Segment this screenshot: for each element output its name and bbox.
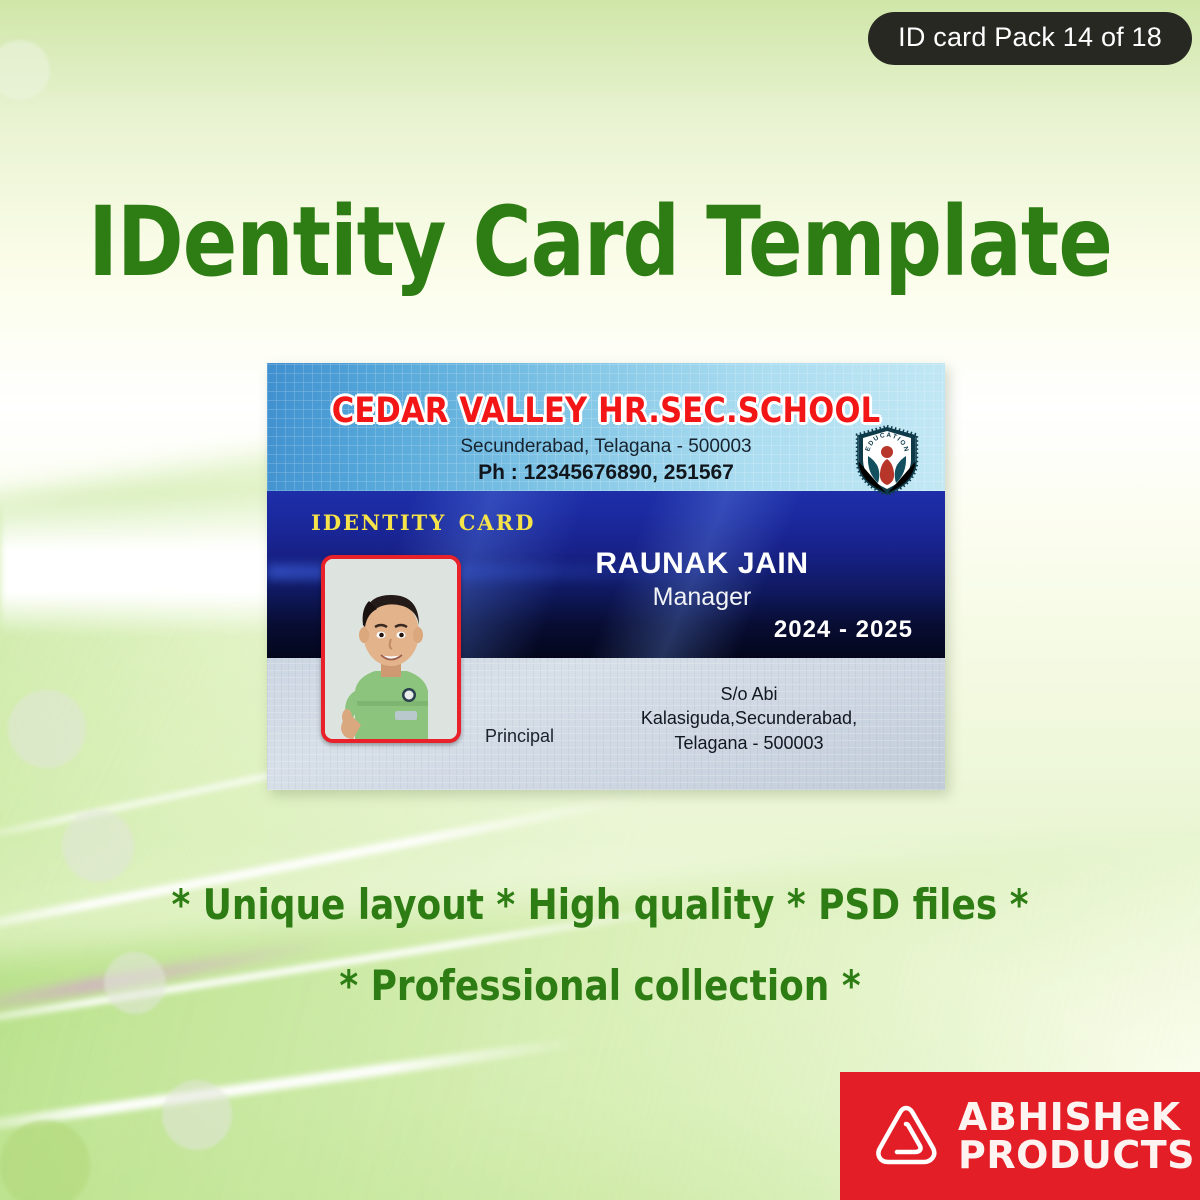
poster-canvas: ID card Pack 14 of 18 IDentity Card Temp… [0, 0, 1200, 1200]
school-name: CEDAR VALLEY HR.SEC.SCHOOL [277, 391, 935, 431]
id-card-label: identity card [311, 503, 535, 538]
school-address: Secunderabad, Telagana - 500003 [267, 436, 945, 458]
principal-label: Principal [485, 726, 554, 747]
id-card-preview: CEDAR VALLEY HR.SEC.SCHOOL Secunderabad,… [267, 363, 945, 790]
holder-address: S/o Abi Kalasiguda,Secunderabad, Telagan… [589, 682, 909, 755]
school-phone: Ph : 12345676890, 251567 [267, 461, 945, 485]
brand-line-1: ABHISHeK [958, 1098, 1195, 1136]
address-line-1: S/o Abi [589, 682, 909, 706]
feature-list: * Unique layout * High quality * PSD fil… [0, 880, 1200, 1010]
feature-line-2: * Professional collection * [30, 961, 1170, 1010]
page-title: IDentity Card Template [42, 186, 1158, 298]
holder-name: RAUNAK JAIN [522, 547, 882, 581]
brand-name: ABHISHeK PRODUCTS [958, 1098, 1195, 1174]
student-portrait-illustration [325, 559, 457, 739]
session-year: 2024 - 2025 [774, 616, 913, 644]
feature-line-1: * Unique layout * High quality * PSD fil… [30, 880, 1170, 929]
background-circle [8, 690, 86, 768]
brand-line-2: PRODUCTS [958, 1136, 1195, 1174]
triangle-a-logo-icon [870, 1100, 942, 1172]
background-circle [0, 1120, 90, 1200]
id-card-header: CEDAR VALLEY HR.SEC.SCHOOL Secunderabad,… [267, 363, 945, 491]
pack-badge: ID card Pack 14 of 18 [868, 12, 1192, 65]
address-line-3: Telagana - 500003 [589, 731, 909, 755]
education-shield-icon: EDUCATION [855, 425, 919, 495]
background-circle [62, 810, 134, 882]
background-circle [162, 1080, 232, 1150]
student-photo [321, 555, 461, 743]
holder-role: Manager [522, 583, 882, 612]
id-card-band: identity card [267, 491, 945, 658]
brand-badge: ABHISHeK PRODUCTS [840, 1072, 1200, 1200]
address-line-2: Kalasiguda,Secunderabad, [589, 706, 909, 730]
